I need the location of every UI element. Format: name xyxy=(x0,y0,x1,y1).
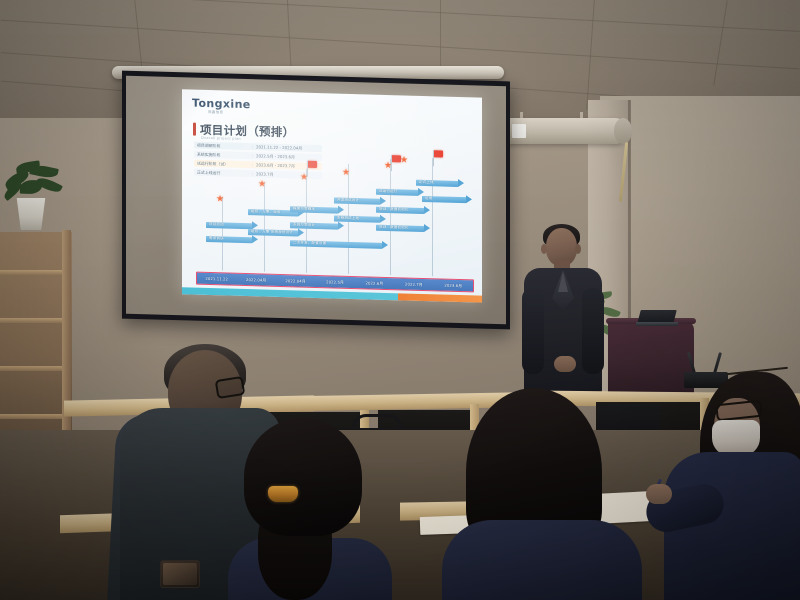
arrow-label: 系统方案设计 xyxy=(290,222,315,228)
arrow-label: 需求调研 xyxy=(206,236,224,241)
arrow-label: 二次开发、配置设置 xyxy=(290,240,326,246)
conference-room-photo: Tongxine 同鑫信息 项目计划（预排） Overall project p… xyxy=(0,0,800,600)
potted-plant-leaves xyxy=(0,156,78,204)
arrow-label: 试运行运行 xyxy=(376,189,398,195)
timeline-arrow: 运维 xyxy=(422,194,472,204)
audience-d-hand xyxy=(646,484,672,504)
projector-screen: Tongxine 同鑫信息 项目计划（预排） Overall project p… xyxy=(122,71,510,330)
duct-end-cap xyxy=(614,118,632,144)
timeline-arrow: 正式上线 xyxy=(416,178,464,188)
arrow-label: 开发测试设计 xyxy=(334,198,359,204)
timeline-tick xyxy=(264,182,265,272)
audience-b-hair xyxy=(244,418,362,536)
arrow-label: 框架方案确定 xyxy=(290,206,315,212)
presenter-hands xyxy=(554,356,576,372)
milestone-flag-icon xyxy=(392,155,401,162)
axis-label: 2022.5月 xyxy=(315,278,354,285)
milestone-star-icon: ★ xyxy=(216,194,224,203)
arrow-label: 运维 xyxy=(422,196,432,201)
audience-c-body xyxy=(442,520,642,600)
info-value: 2021.11.22 - 2022.04月 xyxy=(256,144,322,152)
presenter-ear xyxy=(575,244,581,254)
milestone-star-icon: ★ xyxy=(258,179,266,188)
arrow-label: 项目启动 xyxy=(206,222,224,227)
arrow-label: 正式上线 xyxy=(416,180,434,185)
podium xyxy=(608,320,694,398)
timeline-arrow: 二次开发、配置设置 xyxy=(290,238,388,250)
hair-clip xyxy=(268,486,298,502)
presenter-ear xyxy=(541,244,547,254)
duct-label xyxy=(512,124,526,138)
timeline-tick xyxy=(390,159,391,275)
axis-label: 2022.04月 xyxy=(276,277,315,284)
arrow-label: 培训、数据初始化 xyxy=(376,207,409,213)
axis-label: 2022.7月 xyxy=(394,281,433,288)
title-accent-bar xyxy=(193,123,196,136)
axis-label: 2022.6月 xyxy=(355,280,394,287)
milestone-flag-icon xyxy=(434,150,443,157)
timeline-arrow: 试运行运行 xyxy=(376,187,424,197)
smartphone[interactable] xyxy=(160,560,200,588)
info-sep: : xyxy=(249,144,256,149)
timeline-tick xyxy=(432,158,433,276)
timeline-chart: ★ ★ ★ ★ ★ ★ 项目启动 需求调研 xyxy=(196,152,470,278)
milestone-star-icon: ★ xyxy=(342,168,350,177)
timeline-arrow: 培训、数据初始化 xyxy=(376,205,430,216)
face-mask xyxy=(712,420,760,456)
axis-label: 2023.6月 xyxy=(434,282,473,289)
laptop-keyboard xyxy=(636,322,679,326)
slide-title-en: Overall project plan xyxy=(201,136,241,141)
arrow-label: 系统测试上线 xyxy=(334,216,359,222)
presenter-arm xyxy=(522,288,544,374)
projected-slide: Tongxine 同鑫信息 项目计划（预排） Overall project p… xyxy=(182,89,482,302)
presenter-arm xyxy=(582,288,604,374)
phone-screen xyxy=(163,563,197,585)
slide-logo-subtitle: 同鑫信息 xyxy=(208,109,224,114)
timeline-arrow: 培训、数据初始化 xyxy=(376,223,430,234)
arrow-label: 培训、数据初始化 xyxy=(376,225,409,231)
milestone-star-icon: ★ xyxy=(400,155,408,164)
arrow-label: 组织、人事、业务 xyxy=(248,209,281,215)
screen-surface: Tongxine 同鑫信息 项目计划（预排） Overall project p… xyxy=(126,76,506,325)
axis-label: 2022.04月 xyxy=(236,276,275,283)
axis-label: 2021.11.22 xyxy=(197,276,236,282)
milestone-flag-icon xyxy=(308,161,317,168)
info-key: 项目调研阶段 xyxy=(194,142,249,150)
timeline-tick xyxy=(222,196,223,270)
